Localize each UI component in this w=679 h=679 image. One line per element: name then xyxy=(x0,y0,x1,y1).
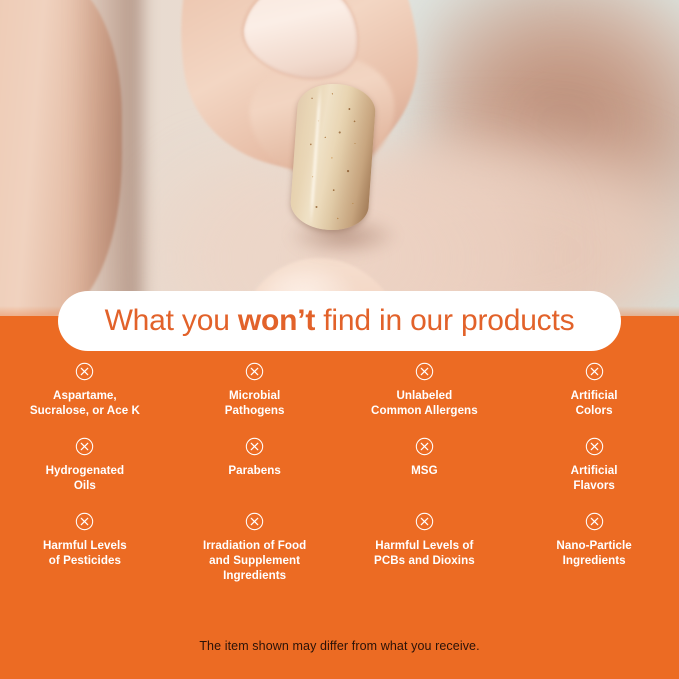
grid-item-label: Irradiation of Food and Supplement Ingre… xyxy=(203,539,306,583)
tablet-in-fingers-photo xyxy=(0,0,679,316)
grid-item: MSG xyxy=(340,437,510,493)
circle-x-icon xyxy=(245,512,264,531)
grid-item-label: Nano-Particle Ingredients xyxy=(556,539,631,568)
circle-x-icon xyxy=(415,512,434,531)
title-part-2: find in our products xyxy=(315,304,574,337)
title-part-1: What you xyxy=(105,304,238,337)
circle-x-icon xyxy=(75,437,94,456)
grid-item: Artificial Flavors xyxy=(509,437,679,493)
grid-item-label: Unlabeled Common Allergens xyxy=(371,389,478,418)
grid-item: Aspartame, Sucralose, or Ace K xyxy=(0,362,170,418)
grid-item: Parabens xyxy=(170,437,340,493)
circle-x-icon xyxy=(75,362,94,381)
grid-item-label: Harmful Levels of PCBs and Dioxins xyxy=(374,539,475,568)
grid-item: Harmful Levels of Pesticides xyxy=(0,512,170,583)
circle-x-icon xyxy=(245,437,264,456)
circle-x-icon xyxy=(415,362,434,381)
grid-item-label: Aspartame, Sucralose, or Ace K xyxy=(30,389,140,418)
grid-item: Artificial Colors xyxy=(509,362,679,418)
disclaimer-text: The item shown may differ from what you … xyxy=(0,639,679,653)
photo-tablet-gloss xyxy=(289,81,377,232)
grid-item-label: Harmful Levels of Pesticides xyxy=(43,539,127,568)
grid-item: Irradiation of Food and Supplement Ingre… xyxy=(170,512,340,583)
grid-item-label: MSG xyxy=(411,464,438,479)
page-title: What you won’t find in our products xyxy=(105,304,575,338)
circle-x-icon xyxy=(245,362,264,381)
grid-item-label: Artificial Colors xyxy=(571,389,618,418)
circle-x-icon xyxy=(415,437,434,456)
grid-item: Unlabeled Common Allergens xyxy=(340,362,510,418)
title-pill: What you won’t find in our products xyxy=(58,291,621,351)
grid-item: Hydrogenated Oils xyxy=(0,437,170,493)
grid-item-label: Artificial Flavors xyxy=(571,464,618,493)
grid-item: Microbial Pathogens xyxy=(170,362,340,418)
product-claims-panel: What you won’t find in our products Aspa… xyxy=(0,0,679,679)
circle-x-icon xyxy=(585,437,604,456)
grid-item-label: Parabens xyxy=(228,464,281,479)
title-emphasis: won’t xyxy=(238,304,315,337)
circle-x-icon xyxy=(75,512,94,531)
circle-x-icon xyxy=(585,512,604,531)
grid-item: Harmful Levels of PCBs and Dioxins xyxy=(340,512,510,583)
photo-tablet xyxy=(289,81,377,232)
circle-x-icon xyxy=(585,362,604,381)
excluded-ingredients-grid: Aspartame, Sucralose, or Ace K Microbial… xyxy=(0,362,679,583)
grid-item-label: Microbial Pathogens xyxy=(225,389,285,418)
photo-left-finger-shadow xyxy=(72,0,142,316)
grid-item-label: Hydrogenated Oils xyxy=(46,464,125,493)
grid-item: Nano-Particle Ingredients xyxy=(509,512,679,583)
